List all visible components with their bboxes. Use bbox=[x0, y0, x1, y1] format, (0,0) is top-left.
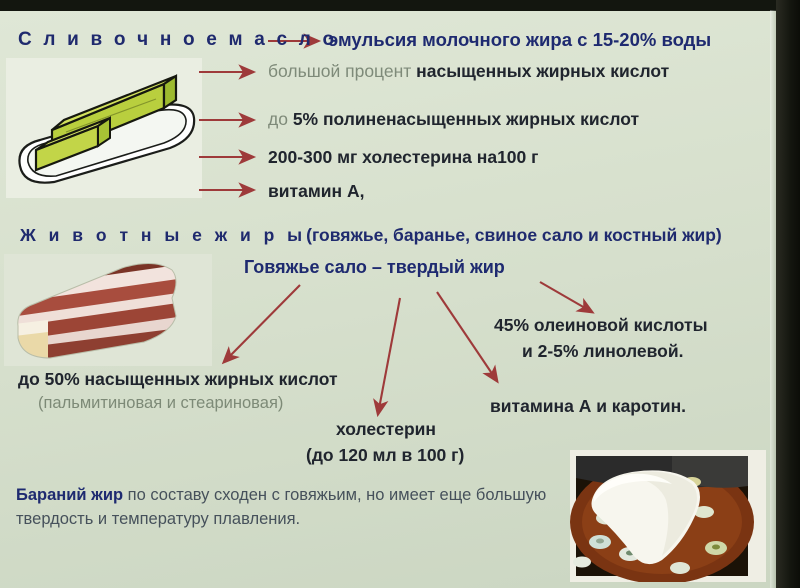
animal-fats-heading-spaced: Ж и в о т н ы е ж и р ы bbox=[20, 225, 306, 245]
screen-bezel-right bbox=[776, 0, 800, 588]
beef-tallow-label: Говяжье сало – твердый жир bbox=[244, 258, 505, 278]
slide-canvas: С л и в о ч н о е м а с л о эмульсия мол… bbox=[0, 0, 800, 588]
animal-fats-heading-rest: (говяжье, баранье, свиное сало и костный… bbox=[306, 225, 722, 245]
butter-bullet-cholesterol: 200-300 мг холестерина на100 г bbox=[268, 148, 538, 167]
mutton-fat-paragraph: Бараний жир по составу сходен с говяжьим… bbox=[16, 484, 561, 532]
cholesterol-label: холестерин bbox=[336, 420, 436, 439]
butter-heading: С л и в о ч н о е м а с л о bbox=[18, 30, 337, 51]
solid-fat-photo bbox=[570, 450, 766, 582]
bullet-prefix: большой процент bbox=[268, 61, 416, 81]
animal-fats-heading: Ж и в о т н ы е ж и р ы(говяжье, баранье… bbox=[20, 226, 722, 245]
screen-bezel-top bbox=[0, 0, 800, 11]
butter-bullet-polyunsaturated: до 5% полиненасыщенных жирных кислот bbox=[268, 110, 639, 129]
butter-bullet-saturated: большой процент насыщенных жирных кислот bbox=[268, 62, 669, 81]
oleic-acid-line-1: 45% олеиновой кислоты bbox=[494, 316, 708, 335]
pork-belly-photo bbox=[4, 254, 212, 366]
vitamin-a-carotene-label: витамина А и каротин. bbox=[490, 397, 686, 416]
cholesterol-sublabel: (до 120 мл в 100 г) bbox=[306, 446, 464, 465]
bullet-emphasis: насыщенных жирных кислот bbox=[416, 61, 669, 81]
saturated-acids-sublabel: (пальмитиновая и стеариновая) bbox=[38, 394, 283, 412]
mutton-fat-lead: Бараний жир bbox=[16, 486, 123, 504]
oleic-acid-line-2: и 2-5% линолевой. bbox=[522, 342, 684, 361]
butter-bullet-vitamin-a: витамин А, bbox=[268, 182, 364, 201]
bullet-prefix: до bbox=[268, 109, 293, 129]
bullet-emphasis: 5% полиненасыщенных жирных кислот bbox=[293, 109, 639, 129]
butter-bullet-emulsion: эмульсия молочного жира с 15-20% воды bbox=[328, 30, 711, 50]
butter-illustration bbox=[6, 58, 202, 198]
saturated-acids-label: до 50% насыщенных жирных кислот bbox=[18, 370, 338, 389]
